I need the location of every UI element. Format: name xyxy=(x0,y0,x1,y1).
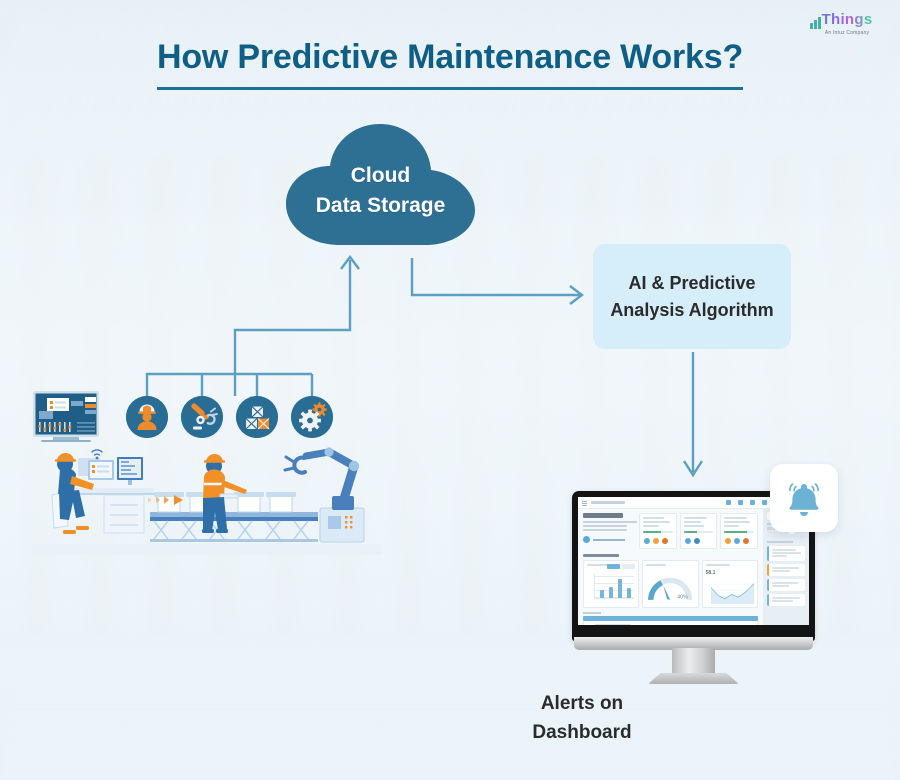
cloud-label-line2: Data Storage xyxy=(283,191,478,221)
alert-bell-card xyxy=(770,464,838,532)
cloud-label: Cloud Data Storage xyxy=(283,161,478,221)
factory-floor-illustration xyxy=(32,440,382,555)
ai-algorithm-label: AI & Predictive Analysis Algorithm xyxy=(610,270,773,322)
monitor-stand-base xyxy=(648,673,739,684)
chart-row: 40% 58.1 xyxy=(583,560,758,608)
svg-text:40%: 40% xyxy=(677,594,688,600)
chart-bar[interactable] xyxy=(583,560,639,608)
project-title xyxy=(583,513,623,518)
alert-bell-icon xyxy=(781,475,827,521)
chart-area[interactable]: 58.1 xyxy=(702,560,758,608)
packages-icon xyxy=(236,396,278,438)
page-title: How Predictive Maintenance Works? xyxy=(157,38,743,90)
cloud-label-line1: Cloud xyxy=(283,161,478,191)
sidebar-note[interactable] xyxy=(767,579,805,591)
workstation xyxy=(68,457,154,533)
robot-arm-icon xyxy=(181,396,223,438)
logo-bars-icon xyxy=(810,15,821,29)
monitor-stand-neck xyxy=(672,648,715,676)
project-link[interactable] xyxy=(583,536,635,543)
worker-icon xyxy=(126,396,168,438)
ai-algorithm-node: AI & Predictive Analysis Algorithm xyxy=(593,244,791,349)
wifi-signal xyxy=(92,450,102,460)
area-series xyxy=(711,578,754,604)
infographic-canvas: Things An Intuz Company How Predictive M… xyxy=(0,0,900,780)
kpi-card[interactable] xyxy=(720,513,758,549)
kpi-card[interactable] xyxy=(639,513,677,549)
sidebar-note[interactable] xyxy=(767,564,805,576)
sidebar-note[interactable] xyxy=(767,594,805,606)
alerts-caption-line1: Alerts on xyxy=(462,690,702,719)
section-title xyxy=(583,554,619,557)
dashboard-main: 40% 58.1 xyxy=(578,508,763,625)
kpi-card-row xyxy=(639,513,758,549)
project-summary xyxy=(583,513,635,549)
source-icon-worker[interactable] xyxy=(126,396,168,438)
conveyor-belt xyxy=(150,512,318,542)
table-body xyxy=(583,621,758,625)
sidebar-note[interactable] xyxy=(767,546,805,561)
gauge-icon: 40% xyxy=(643,571,697,607)
ai-label-line2: Analysis Algorithm xyxy=(610,297,773,323)
page-title-wrap: How Predictive Maintenance Works? xyxy=(0,38,900,90)
menu-icon[interactable] xyxy=(582,501,587,505)
alerts-caption: Alerts on Dashboard xyxy=(462,690,702,747)
logo-tagline: An Intuz Company xyxy=(808,30,886,36)
source-icon-gears[interactable] xyxy=(291,396,333,438)
control-panel-screen xyxy=(33,391,99,443)
chart-gauge[interactable]: 40% xyxy=(642,560,698,608)
alerts-caption-line2: Dashboard xyxy=(462,719,702,748)
kpi-card[interactable] xyxy=(680,513,718,549)
data-source-icons xyxy=(126,396,336,440)
source-icon-packages[interactable] xyxy=(236,396,278,438)
cloud-node: Cloud Data Storage xyxy=(283,121,478,246)
robotic-arm xyxy=(285,447,364,542)
source-icon-robot-arm[interactable] xyxy=(181,396,223,438)
ai-label-line1: AI & Predictive xyxy=(610,270,773,296)
dashboard-title xyxy=(591,501,625,504)
gears-icon xyxy=(291,396,333,438)
control-panel-icon xyxy=(33,391,99,443)
